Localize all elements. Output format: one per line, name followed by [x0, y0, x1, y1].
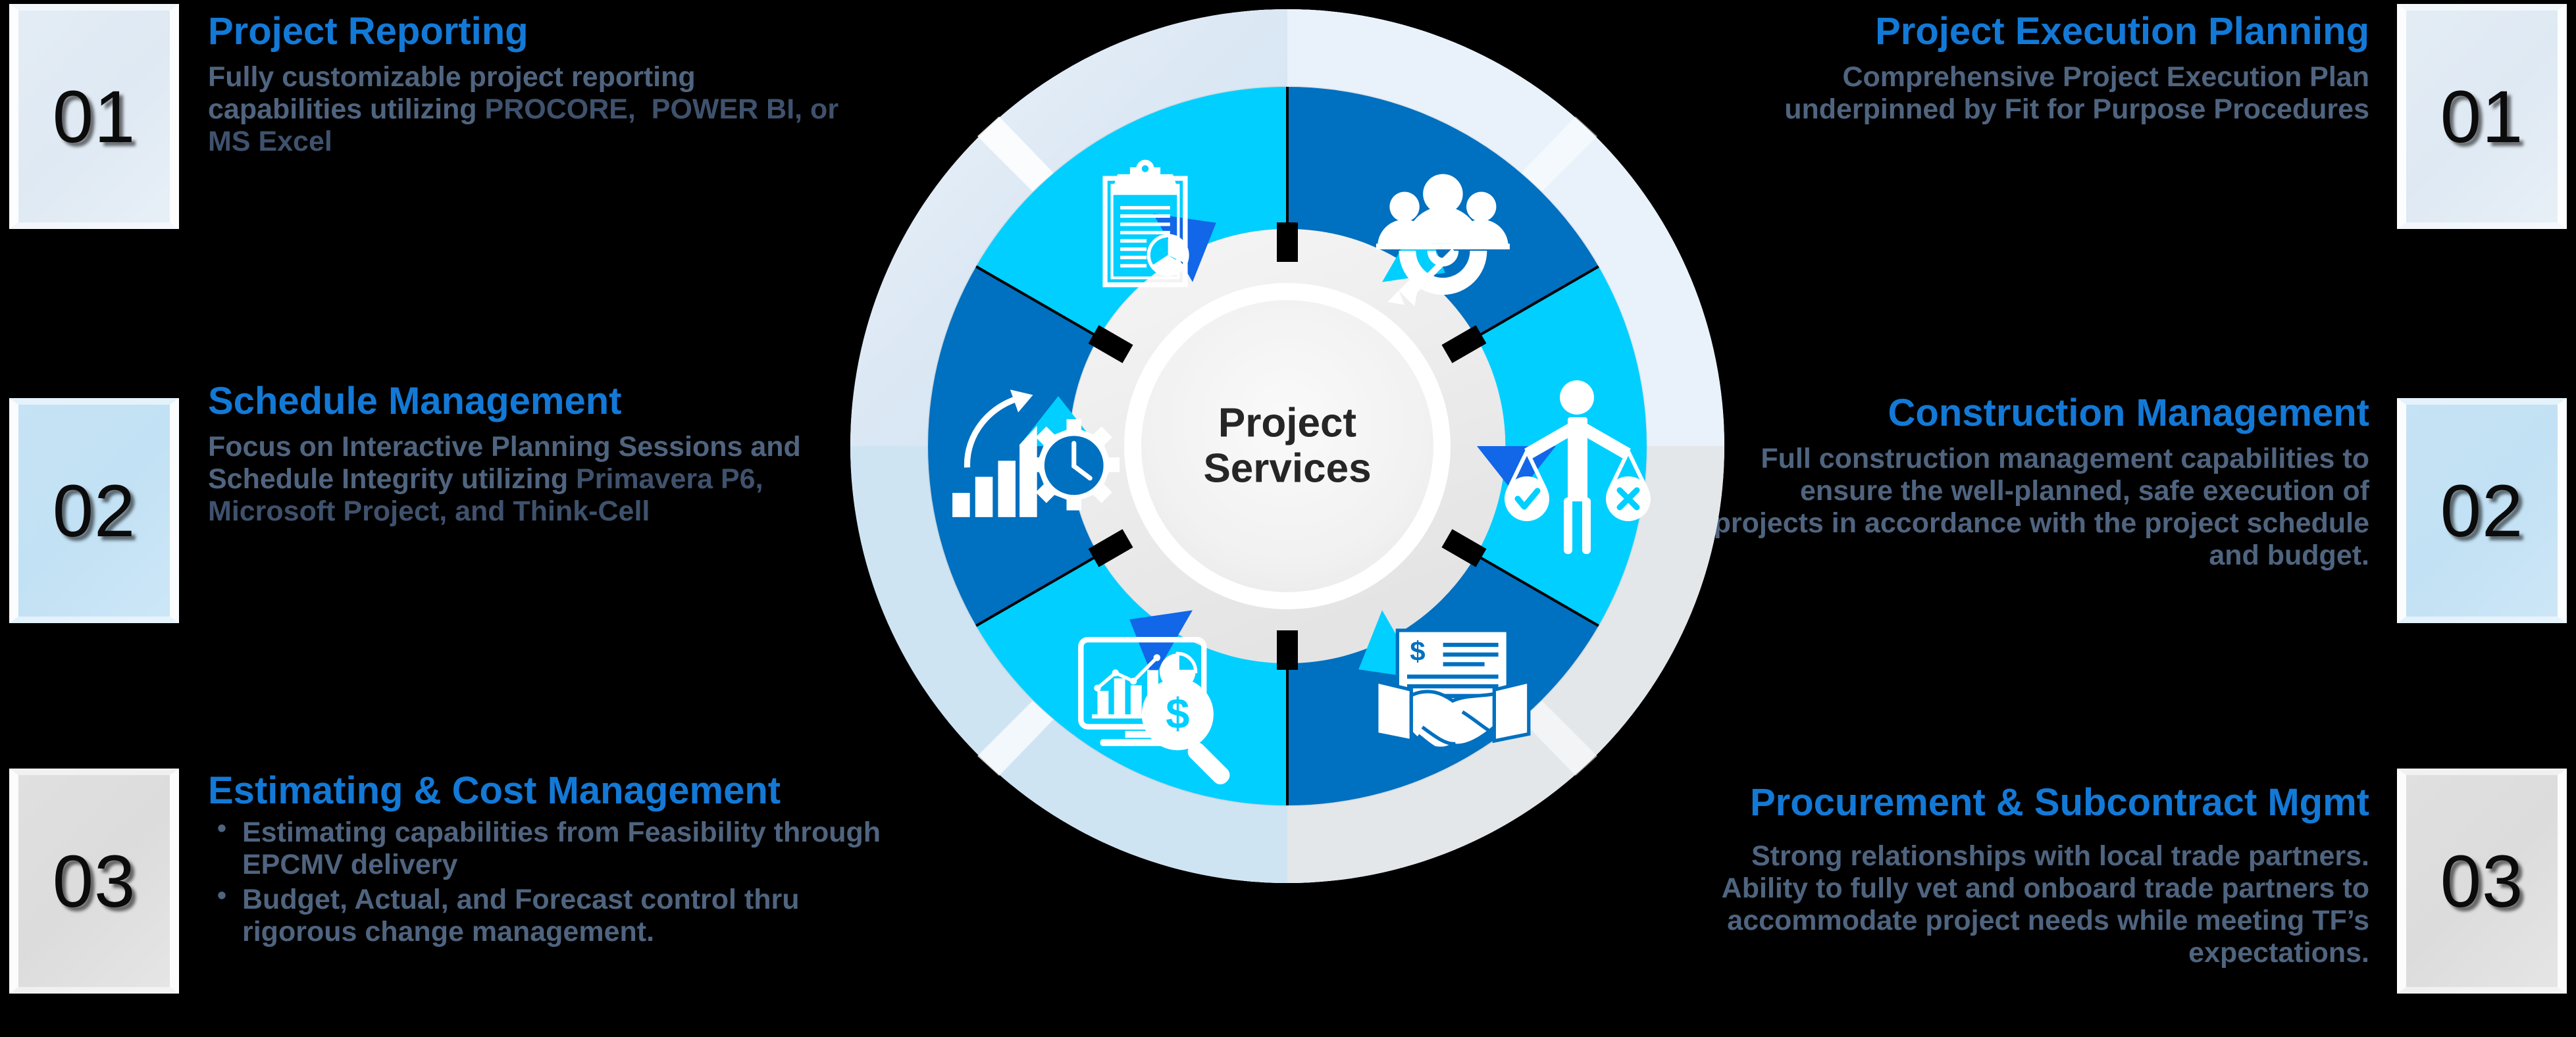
- center-line-1: Project: [1136, 401, 1439, 446]
- block-body: Fully customizable project reporting cap…: [208, 61, 840, 158]
- number-plaque-left-02: 02: [9, 398, 179, 623]
- number-plaque-right-03: 03: [2397, 769, 2567, 994]
- text-block-schedule-management: Schedule Management Focus on Interactive…: [208, 382, 840, 528]
- text-block-project-reporting: Project Reporting Fully customizable pro…: [208, 12, 840, 158]
- number-plaque-right-02: 02: [2397, 398, 2567, 623]
- number-label: 02: [53, 468, 136, 553]
- block-title: Procurement & Subcontract Mgmt: [1659, 783, 2369, 822]
- svg-text:$: $: [1166, 690, 1189, 738]
- block-title: Schedule Management: [208, 382, 840, 420]
- infographic-canvas: 01 Project Reporting Fully customizable …: [0, 0, 2576, 1037]
- list-item: Estimating capabilities from Feasibility…: [208, 817, 886, 881]
- block-bullet-list: Estimating capabilities from Feasibility…: [208, 817, 886, 948]
- svg-text:$: $: [1410, 636, 1425, 667]
- block-title: Project Reporting: [208, 12, 840, 51]
- number-label: 02: [2440, 468, 2524, 553]
- text-block-construction-management: Construction Management Full constructio…: [1711, 393, 2369, 572]
- block-title: Project Execution Planning: [1711, 12, 2369, 51]
- list-item: Budget, Actual, and Forecast control thr…: [208, 884, 886, 948]
- center-line-2: Services: [1136, 446, 1439, 492]
- number-label: 01: [53, 74, 136, 159]
- block-body: Comprehensive Project Execution Plan und…: [1711, 61, 2369, 126]
- number-plaque-right-01: 01: [2397, 4, 2567, 229]
- number-label: 03: [53, 839, 136, 924]
- number-label: 03: [2440, 839, 2524, 924]
- block-title: Estimating & Cost Management: [208, 771, 886, 810]
- number-plaque-left-01: 01: [9, 4, 179, 229]
- block-body: Focus on Interactive Planning Sessions a…: [208, 431, 840, 528]
- block-body: Strong relationships with local trade pa…: [1659, 840, 2369, 969]
- handshake-contract-icon: $: [1377, 630, 1529, 752]
- text-block-procurement-subcontract: Procurement & Subcontract Mgmt Strong re…: [1659, 783, 2369, 969]
- text-block-project-execution-planning: Project Execution Planning Comprehensive…: [1711, 12, 2369, 126]
- wheel-center-label: Project Services: [1136, 401, 1439, 492]
- number-label: 01: [2440, 74, 2524, 159]
- project-services-wheel: $: [846, 5, 1728, 887]
- block-body: Full construction management capabilitie…: [1711, 443, 2369, 572]
- block-title: Construction Management: [1711, 393, 2369, 432]
- text-block-estimating-cost: Estimating & Cost Management Estimating …: [208, 771, 886, 951]
- number-plaque-left-03: 03: [9, 769, 179, 994]
